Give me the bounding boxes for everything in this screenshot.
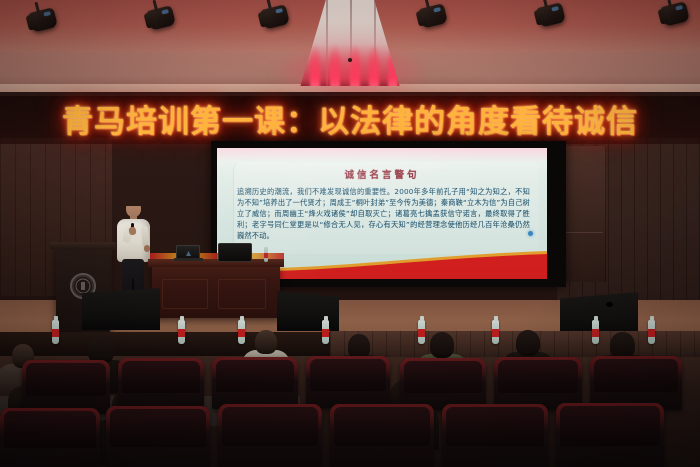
auditorium-seat: [218, 404, 322, 467]
auditorium-seat: [212, 357, 298, 409]
slide-top-haze: [217, 148, 547, 162]
water-bottle: [492, 320, 499, 344]
ceiling-sensor-dot: [348, 58, 352, 62]
water-bottle: [648, 320, 655, 344]
water-bottle: [238, 320, 245, 344]
head-table: [152, 265, 280, 318]
auditorium-seat: [330, 404, 434, 467]
slide-title: 诚信名言警句: [217, 167, 547, 181]
auditorium-seat: [442, 404, 548, 467]
auditorium-seat: [118, 358, 204, 410]
laptop-screen: [176, 245, 200, 259]
water-bottle: [322, 320, 329, 344]
stage-monitor-speaker: [82, 288, 160, 330]
light-lens-icon: [161, 9, 169, 15]
auditorium-seat: [0, 408, 100, 467]
table-panel: [162, 279, 208, 309]
auditorium-photo: 青马培训第一课：以法律的角度看待诚信 诚信名言警句 追溯历史的潮流，我们不难发现…: [0, 0, 700, 467]
laptop: [176, 245, 202, 261]
water-bottle: [264, 247, 268, 262]
desk-monitor: [218, 243, 252, 262]
light-lens-icon: [275, 8, 283, 14]
slide-body-text: 追溯历史的潮流，我们不难发现诚信的重要性。2000年多年前孔子用“知之为知之，不…: [237, 186, 530, 241]
auditorium-seat: [306, 356, 390, 408]
auditorium-seat: [400, 358, 486, 410]
audience-member-head: [430, 332, 454, 358]
light-lens-icon: [433, 7, 441, 13]
led-banner: 青马培训第一课：以法律的角度看待诚信: [0, 92, 700, 144]
water-bottle: [592, 320, 599, 344]
auditorium-seat: [22, 360, 110, 414]
wall-door-panel: [560, 146, 606, 282]
light-lens-icon: [675, 5, 683, 11]
auditorium-seat: [556, 403, 664, 467]
water-bottle: [418, 320, 425, 344]
water-bottle: [178, 320, 185, 344]
auditorium-seat: [106, 406, 210, 467]
audience-member-head: [255, 330, 277, 354]
laptop-base: [174, 258, 203, 261]
light-lens-icon: [43, 11, 51, 17]
water-bottle: [52, 320, 59, 344]
auditorium-seat: [590, 356, 682, 410]
podium-top: [50, 242, 116, 250]
presenter-hand: [144, 245, 150, 252]
audience-member-head: [516, 330, 540, 356]
laptop-logo-icon: [186, 251, 191, 256]
slide-bullet-dot: [528, 231, 533, 236]
audience-member-head: [610, 332, 635, 359]
banner-title-text: 青马培训第一课：以法律的角度看待诚信: [62, 96, 638, 141]
stage-monitor-speaker: [277, 291, 339, 331]
table-panel: [218, 279, 266, 309]
light-lens-icon: [551, 6, 559, 12]
